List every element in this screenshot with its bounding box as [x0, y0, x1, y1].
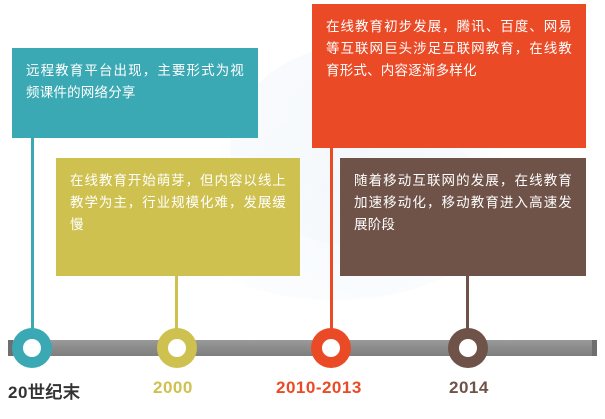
milestone-card-3: 在线教育初步发展，腾讯、百度、网易等互联网巨头涉足互联网教育，在线教育形式、内容… [312, 4, 586, 148]
milestone-card-4: 随着移动互联网的发展，在线教育加速移动化，移动教育进入高速发展阶段 [340, 158, 586, 276]
connector-4 [466, 276, 469, 332]
timeline-node-1-center [23, 339, 41, 357]
milestone-card-1-text: 远程教育平台出现，主要形式为视频课件的网络分享 [26, 63, 244, 100]
connector-2 [175, 276, 178, 332]
timeline-node-3[interactable] [311, 328, 351, 368]
connector-3 [330, 148, 333, 332]
timeline-node-2-center [168, 339, 186, 357]
timeline-diagram: 远程教育平台出现，主要形式为视频课件的网络分享 在线教育开始萌芽，但内容以线上教… [0, 0, 605, 419]
milestone-card-4-text: 随着移动互联网的发展，在线教育加速移动化，移动教育进入高速发展阶段 [354, 173, 572, 232]
timeline-bar-right-cap [592, 340, 597, 356]
timeline-label-4: 2014 [449, 378, 489, 398]
timeline-label-2: 2000 [153, 378, 193, 398]
connector-1 [31, 138, 34, 332]
timeline-node-3-center [322, 339, 340, 357]
milestone-card-2: 在线教育开始萌芽，但内容以线上教学为主，行业规模化难，发展缓慢 [56, 158, 300, 276]
timeline-node-4-center [459, 339, 477, 357]
timeline-label-3: 2010-2013 [276, 378, 362, 398]
timeline-label-1: 20世纪末 [8, 378, 80, 403]
milestone-card-2-text: 在线教育开始萌芽，但内容以线上教学为主，行业规模化难，发展缓慢 [70, 173, 286, 232]
timeline-node-1[interactable] [12, 328, 52, 368]
milestone-card-1: 远程教育平台出现，主要形式为视频课件的网络分享 [12, 48, 258, 138]
milestone-card-3-text: 在线教育初步发展，腾讯、百度、网易等互联网巨头涉足互联网教育，在线教育形式、内容… [326, 19, 572, 78]
timeline-bar [8, 340, 597, 356]
timeline-node-2[interactable] [157, 328, 197, 368]
timeline-node-4[interactable] [448, 328, 488, 368]
